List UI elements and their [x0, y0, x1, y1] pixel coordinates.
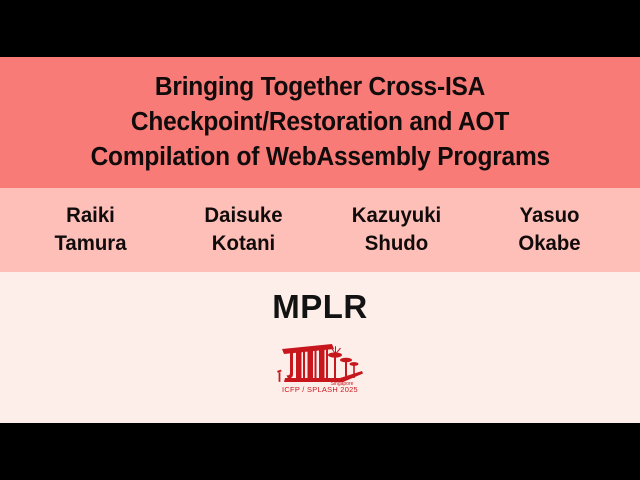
- venue-acronym: MPLR: [272, 288, 368, 326]
- title-band: Bringing Together Cross-ISA Checkpoint/R…: [0, 57, 640, 188]
- author-1-given-name: Raiki: [16, 202, 164, 230]
- title-line-3: Compilation of WebAssembly Programs: [90, 140, 549, 175]
- venue-band: MPLR: [0, 272, 640, 423]
- singapore-skyline-icon: Singapore ICFP / SPLASH 2025: [274, 338, 366, 394]
- author-3-given-name: Kazuyuki: [322, 202, 470, 230]
- title-line-2: Checkpoint/Restoration and AOT: [131, 105, 509, 140]
- author-1: Raiki Tamura: [16, 202, 164, 258]
- talk-title-slide: Bringing Together Cross-ISA Checkpoint/R…: [0, 0, 640, 480]
- title-line-1: Bringing Together Cross-ISA: [155, 70, 485, 105]
- icfp-splash-2025-singapore-logo: Singapore ICFP / SPLASH 2025: [274, 338, 366, 394]
- logo-caption: ICFP / SPLASH 2025: [282, 385, 358, 394]
- author-4-given-name: Yasuo: [475, 202, 623, 230]
- author-3-family-name: Shudo: [322, 230, 470, 258]
- author-4-family-name: Okabe: [475, 230, 623, 258]
- authors-band: Raiki Tamura Daisuke Kotani Kazuyuki Shu…: [0, 188, 640, 272]
- author-1-family-name: Tamura: [16, 230, 164, 258]
- author-4: Yasuo Okabe: [475, 202, 623, 258]
- author-3: Kazuyuki Shudo: [322, 202, 470, 258]
- author-2-family-name: Kotani: [169, 230, 317, 258]
- author-2-given-name: Daisuke: [169, 202, 317, 230]
- letterbox-bar-top: [0, 0, 640, 57]
- letterbox-bar-bottom: [0, 423, 640, 480]
- author-2: Daisuke Kotani: [169, 202, 317, 258]
